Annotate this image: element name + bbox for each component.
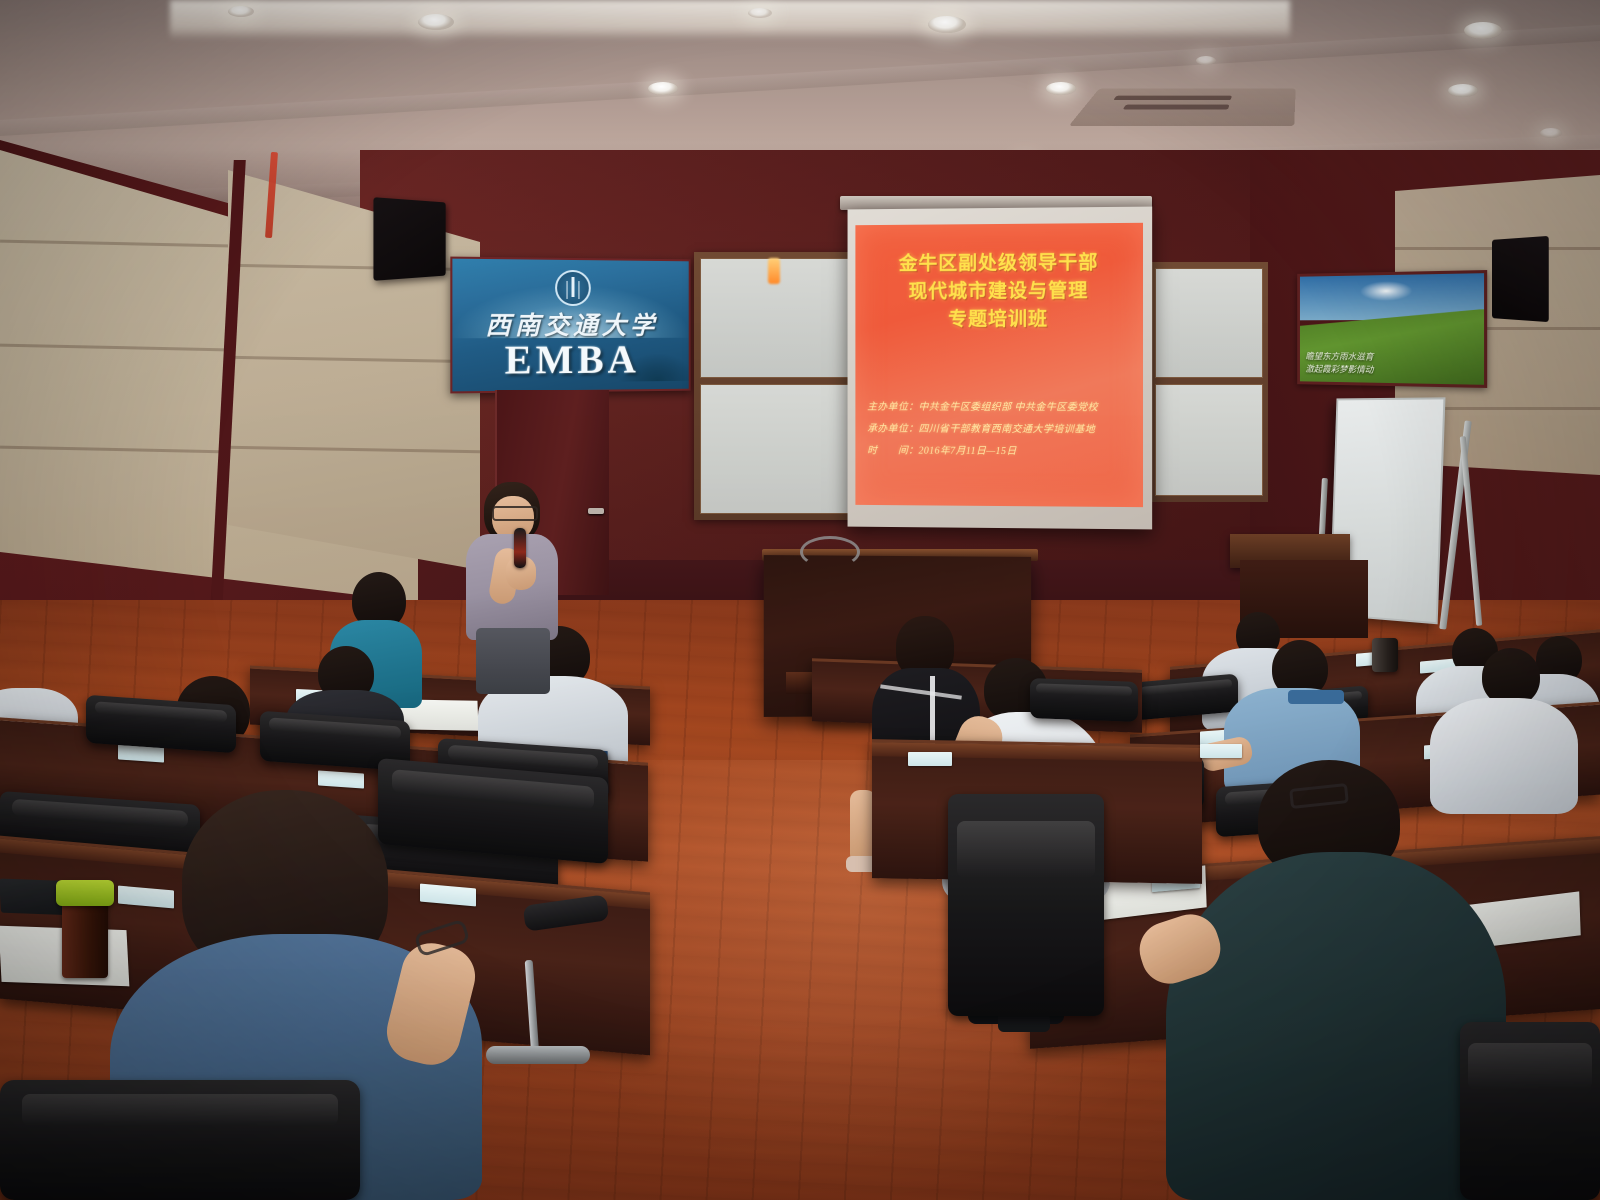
slide-heading-line-1: 金牛区副处级领导干部 bbox=[855, 247, 1143, 276]
thermos-bottle bbox=[1372, 638, 1398, 672]
slide-date-line: 时 间：2016年7月11日—15日 bbox=[867, 441, 1131, 457]
ac-vent-icon bbox=[1069, 88, 1296, 126]
emba-wall-banner: 西南交通大学 EMBA bbox=[450, 257, 690, 394]
ceiling-downlight bbox=[228, 6, 254, 17]
whiteboard-right bbox=[1150, 262, 1268, 502]
name-card bbox=[908, 752, 952, 766]
chair[interactable] bbox=[1460, 1022, 1600, 1200]
podium-microphone-icon bbox=[800, 536, 860, 568]
ceiling-downlight bbox=[648, 82, 678, 95]
ceiling-downlight bbox=[418, 14, 454, 30]
classroom-photo: 西南交通大学 EMBA 瞻望东方雨水滋育 激起霞彩梦影情动 金牛区副处级领导干部… bbox=[0, 0, 1600, 1200]
attendee-collar bbox=[1288, 690, 1344, 704]
projected-slide: 金牛区副处级领导干部 现代城市建设与管理 专题培训班 主办单位：中共金牛区委组织… bbox=[855, 223, 1143, 507]
ceiling-light-strip bbox=[170, 0, 1290, 40]
banner-program-name: EMBA bbox=[452, 336, 688, 384]
slide-host-line: 承办单位：四川省干部教育西南交通大学培训基地 bbox=[867, 420, 1131, 436]
attendee-body bbox=[1166, 852, 1506, 1200]
thermos-green-cap bbox=[56, 880, 114, 906]
attendee-body bbox=[1430, 698, 1578, 814]
handheld-microphone-icon bbox=[514, 528, 526, 568]
chair[interactable] bbox=[948, 794, 1104, 1016]
ceiling-downlight bbox=[928, 16, 966, 33]
landscape-poster: 瞻望东方雨水滋育 激起霞彩梦影情动 bbox=[1297, 270, 1487, 388]
wall-speaker-left-icon bbox=[373, 197, 445, 281]
presenter-trousers bbox=[476, 628, 550, 694]
name-card bbox=[1200, 744, 1242, 758]
slide-organizer-line: 主办单位：中共金牛区委组织部 中共金牛区委党校 bbox=[867, 398, 1131, 414]
poster-text: 瞻望东方雨水滋育 激起霞彩梦影情动 bbox=[1305, 350, 1447, 378]
chair[interactable] bbox=[1030, 678, 1138, 722]
chair-base bbox=[486, 1046, 590, 1064]
ceiling-downlight bbox=[1046, 82, 1076, 95]
ceiling-downlight bbox=[1540, 128, 1562, 138]
presenter-glasses-icon bbox=[492, 506, 538, 521]
slide-heading-line-2: 现代城市建设与管理 bbox=[855, 275, 1143, 303]
ceiling-downlight bbox=[1196, 56, 1216, 65]
slide-heading-line-3: 专题培训班 bbox=[855, 303, 1143, 331]
chair[interactable] bbox=[0, 1080, 360, 1200]
poster-text-line-2: 激起霞彩梦影情动 bbox=[1305, 363, 1447, 378]
whiteboard-left bbox=[694, 252, 872, 520]
whiteboard-light-reflection bbox=[768, 258, 780, 284]
ceiling-downlight bbox=[1448, 84, 1478, 97]
ceiling-downlight bbox=[1464, 22, 1502, 39]
wall-speaker-right-icon bbox=[1492, 236, 1549, 322]
name-card bbox=[318, 770, 364, 788]
projection-screen: 金牛区副处级领导干部 现代城市建设与管理 专题培训班 主办单位：中共金牛区委组织… bbox=[848, 207, 1153, 530]
thermos-bottle bbox=[62, 900, 108, 978]
ceiling-downlight bbox=[748, 8, 772, 18]
door-handle-icon[interactable] bbox=[588, 508, 604, 514]
university-seal-icon bbox=[555, 270, 591, 306]
